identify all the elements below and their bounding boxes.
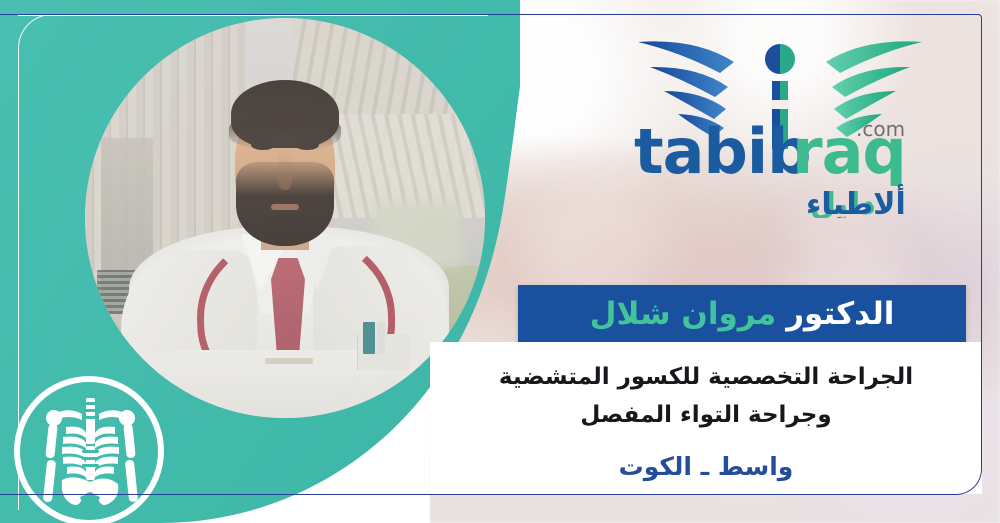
doctor-info-card: الجراحة التخصصية للكسور المتشضية وجراحة … [430,342,982,494]
skeleton-badge [14,376,164,523]
doctor-portrait [85,18,485,418]
portrait-desaturate-overlay [85,18,485,418]
doctor-location: واسط ـ الكوت [430,452,982,481]
specialty-line-2: وجراحة التواء المفصل [430,402,982,428]
doctor-profile-card: tabib raq .com دليل ألاطباء الدكتورمروان… [0,0,1000,523]
doctor-title: الدكتور [786,296,894,332]
brand-logo: tabib raq .com دليل ألاطباء [620,28,940,218]
doctor-name-text: الدكتورمروان شلال [590,296,895,332]
svg-text:tabib: tabib [634,115,811,188]
winged-caduceus-person-icon: tabib raq .com دليل ألاطباء [620,28,940,218]
skeleton-ribcage-icon [36,396,144,508]
teal-inset-top-line [18,14,488,16]
specialty-line-1: الجراحة التخصصية للكسور المتشضية [430,364,982,390]
doctor-name: مروان شلال [590,296,777,332]
doctor-name-banner: الدكتورمروان شلال [518,285,966,342]
svg-text:.com: .com [856,117,905,141]
svg-text:ألاطباء: ألاطباء [806,184,906,218]
